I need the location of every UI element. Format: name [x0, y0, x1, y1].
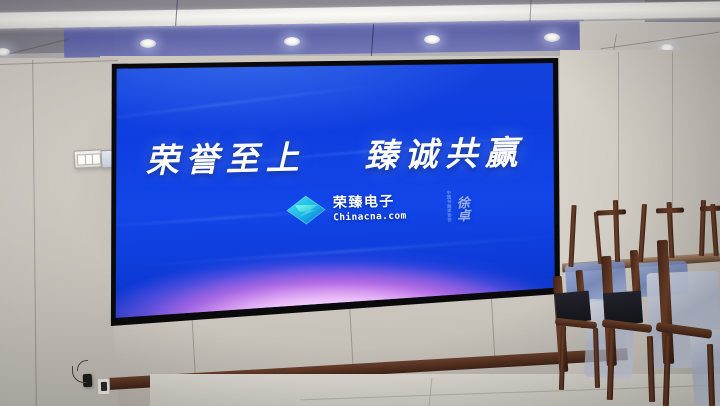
chinacna-arrow-logo-icon — [286, 195, 327, 226]
headline-left: 荣誉至上 — [145, 138, 306, 181]
left-wall — [0, 58, 118, 406]
light-switch-panel[interactable] — [74, 149, 103, 168]
room-photo-scene: 荣誉至上 臻诚共赢 — [0, 0, 720, 406]
downlight-3-icon — [424, 35, 440, 44]
floor — [150, 374, 720, 406]
logo-company-name-cn: 荣臻电子 — [333, 194, 407, 210]
logo-text-block: 荣臻电子 Chinacna.com — [333, 194, 407, 222]
signature-name: 徐卓 — [454, 195, 468, 221]
chair-back-rail — [656, 208, 684, 214]
downlight-2-icon — [284, 37, 300, 46]
downlight-1-icon — [140, 39, 156, 48]
logo-company-url: Chinacna.com — [333, 211, 407, 222]
signature-caption: 中国书画家协会 — [446, 190, 452, 222]
led-display-screen[interactable]: 荣誉至上 臻诚共赢 — [114, 62, 556, 320]
chair-back-rail — [700, 206, 720, 212]
headline-right: 臻诚共赢 — [364, 133, 525, 176]
wall-outlet-lower[interactable] — [97, 378, 111, 395]
outlet-socket[interactable] — [100, 382, 106, 391]
downlight-4-icon — [544, 33, 560, 42]
slide-signature: 中国书画家协会 徐卓 — [446, 190, 469, 222]
slide-headline: 荣誉至上 臻诚共赢 — [114, 125, 556, 183]
right-wall-seam — [672, 52, 673, 232]
slide-logo-lockup: 荣臻电子 Chinacna.com — [286, 192, 407, 225]
wrapped-furniture — [689, 329, 720, 406]
